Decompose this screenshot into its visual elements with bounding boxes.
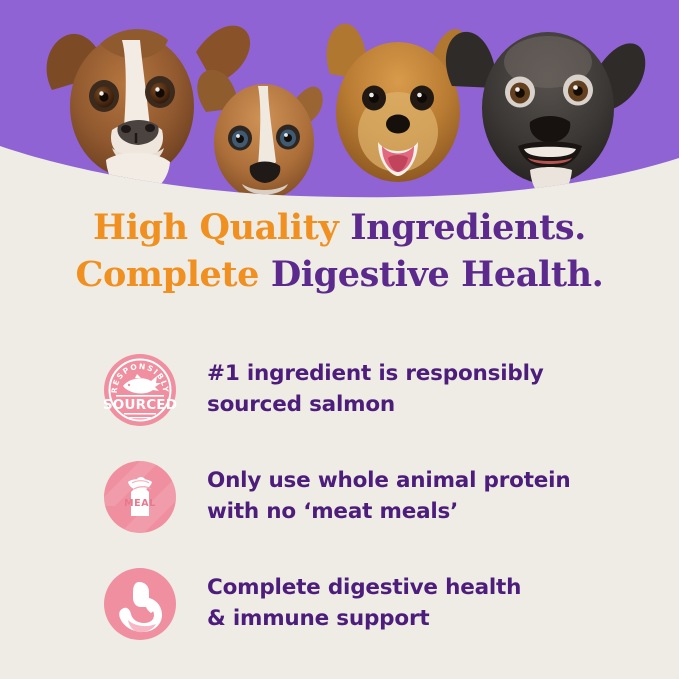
headline-line-1-orange: High Quality [93, 207, 350, 248]
feature-text-digestive-health: Complete digestive health & immune suppo… [207, 573, 521, 634]
feature-line-1: Only use whole animal protein [207, 466, 570, 497]
feature-line-1: Complete digestive health [207, 573, 521, 604]
feature-list: RESPONSIBLY SOURCED #1 ingredient is res… [0, 336, 679, 657]
page-title: High Quality Ingredients. Complete Diges… [0, 205, 679, 299]
headline-line-2-purple: Digestive Health. [271, 254, 604, 295]
responsibly-sourced-badge-icon: RESPONSIBLY SOURCED [101, 351, 179, 429]
headline-line-1: High Quality Ingredients. [0, 205, 679, 252]
hero-banner [0, 0, 679, 200]
headline-line-2: Complete Digestive Health. [0, 252, 679, 299]
feature-text-no-meat-meals: Only use whole animal protein with no ‘m… [207, 466, 570, 527]
headline-line-1-purple: Ingredients. [350, 207, 586, 248]
feature-line-1: #1 ingredient is responsibly [207, 359, 544, 390]
no-meat-meal-badge-icon: MEAL [101, 458, 179, 536]
feature-line-2: & immune support [207, 604, 521, 635]
feature-line-2: with no ‘meat meals’ [207, 497, 570, 528]
meal-bag-icon [128, 477, 152, 516]
four-dogs-photo [0, 0, 679, 200]
badge-main-text: MEAL [124, 498, 156, 509]
feature-item-responsibly-sourced: RESPONSIBLY SOURCED #1 ingredient is res… [0, 336, 679, 443]
badge-main-text: SOURCED [103, 397, 177, 413]
feature-line-2: sourced salmon [207, 390, 544, 421]
feature-text-responsibly-sourced: #1 ingredient is responsibly sourced sal… [207, 359, 544, 420]
feature-item-no-meat-meals: MEAL Only use whole animal protein with … [0, 443, 679, 550]
product-feature-panel: High Quality Ingredients. Complete Diges… [0, 0, 679, 679]
headline-line-2-orange: Complete [76, 254, 271, 295]
feature-item-digestive-health: Complete digestive health & immune suppo… [0, 550, 679, 657]
digestive-health-badge-icon [101, 565, 179, 643]
